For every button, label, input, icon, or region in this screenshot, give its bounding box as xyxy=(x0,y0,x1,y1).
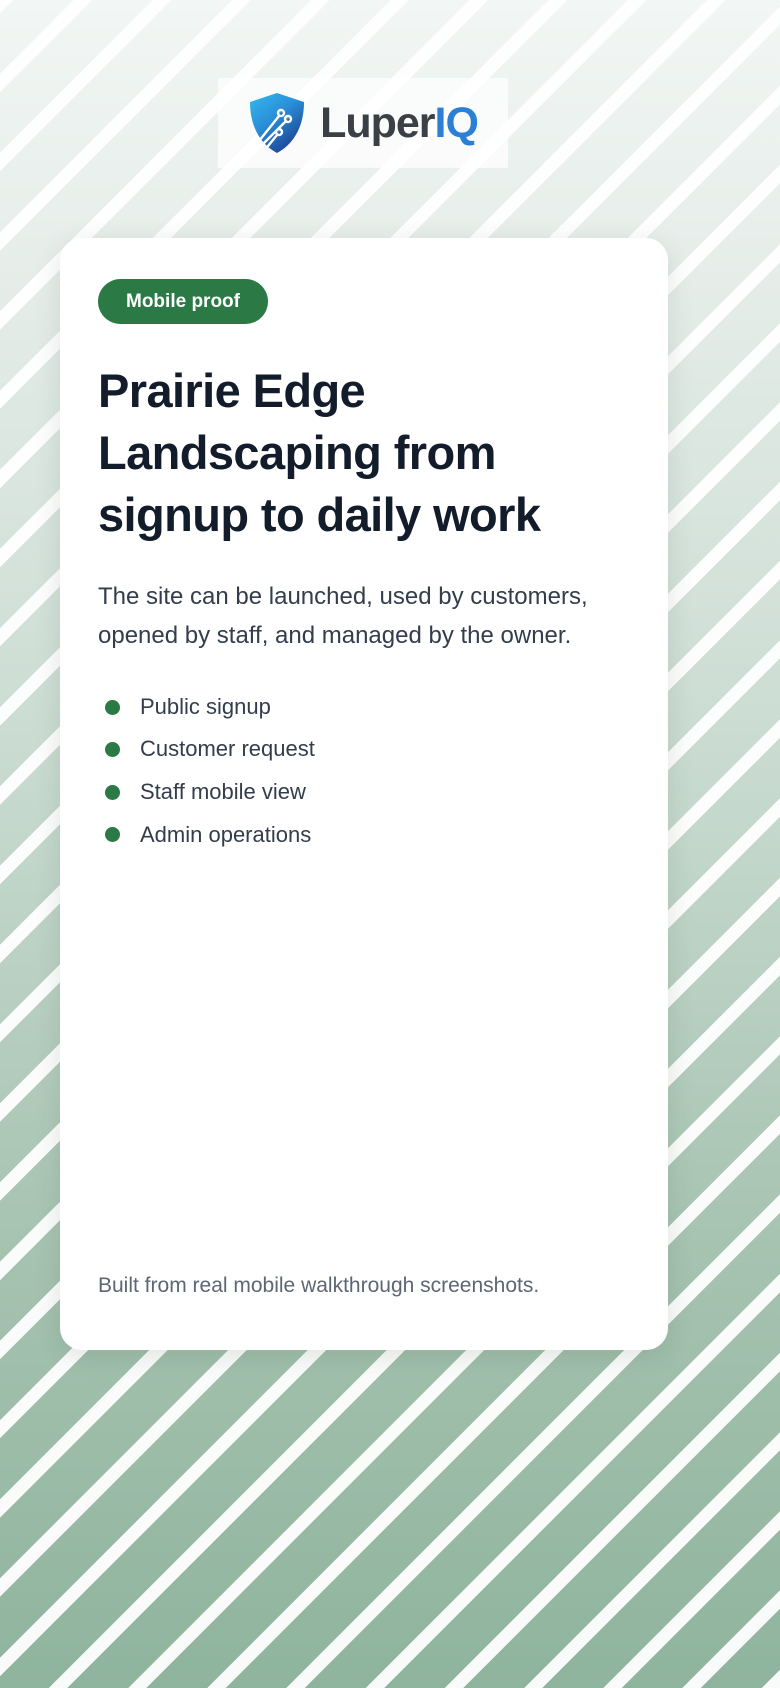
bullet-dot-icon xyxy=(105,785,120,800)
brand-wordmark: LuperIQ xyxy=(320,102,478,145)
feature-list: Public signup Customer request Staff mob… xyxy=(98,686,630,856)
card-spacer xyxy=(98,856,630,1274)
list-item: Public signup xyxy=(98,686,630,729)
list-item-label: Admin operations xyxy=(140,821,311,850)
bullet-dot-icon xyxy=(105,700,120,715)
bullet-dot-icon xyxy=(105,742,120,757)
status-badge: Mobile proof xyxy=(98,279,268,324)
list-item: Staff mobile view xyxy=(98,771,630,814)
shield-circuit-icon xyxy=(248,92,306,154)
list-item-label: Public signup xyxy=(140,693,271,722)
page-description: The site can be launched, used by custom… xyxy=(98,578,630,656)
list-item-label: Customer request xyxy=(140,735,315,764)
list-item: Admin operations xyxy=(98,814,630,857)
brand-logo: LuperIQ xyxy=(218,78,508,168)
list-item-label: Staff mobile view xyxy=(140,778,306,807)
bullet-dot-icon xyxy=(105,827,120,842)
list-item: Customer request xyxy=(98,728,630,771)
brand-name-primary: Luper xyxy=(320,99,434,147)
proof-card: Mobile proof Prairie Edge Landscaping fr… xyxy=(60,238,668,1350)
card-footnote: Built from real mobile walkthrough scree… xyxy=(98,1274,630,1350)
page-title: Prairie Edge Landscaping from signup to … xyxy=(98,360,630,546)
brand-name-accent: IQ xyxy=(435,99,478,147)
